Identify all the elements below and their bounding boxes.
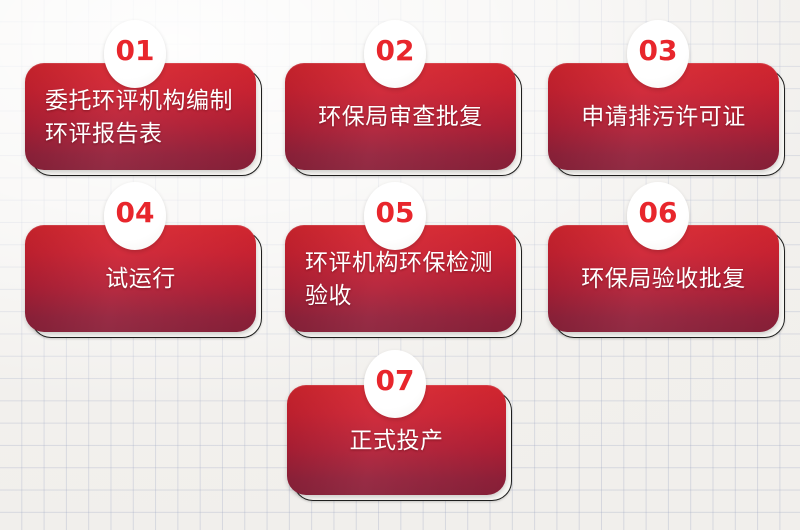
- step-number: 02: [376, 37, 415, 65]
- infographic-canvas: 委托环评机构编制环评报告表01环保局审查批复02申请排污许可证03试运行04环评…: [0, 0, 800, 530]
- step-number-badge: 03: [627, 20, 689, 88]
- step-number-badge: 02: [364, 20, 426, 88]
- step-number: 04: [116, 199, 155, 227]
- step-number: 03: [639, 37, 678, 65]
- step-label: 申请排污许可证: [548, 100, 779, 133]
- step-label: 试运行: [25, 262, 256, 295]
- step-label: 环评机构环保检测验收: [285, 246, 516, 311]
- step-number: 01: [116, 37, 155, 65]
- step-number-badge: 04: [104, 182, 166, 250]
- step-number-badge: 06: [627, 182, 689, 250]
- step-label: 环保局审查批复: [285, 100, 516, 133]
- step-number: 07: [376, 367, 415, 395]
- step-label: 委托环评机构编制环评报告表: [25, 84, 256, 149]
- step-number-badge: 01: [104, 20, 166, 88]
- step-number: 05: [376, 199, 415, 227]
- step-label: 环保局验收批复: [548, 262, 779, 295]
- step-number-badge: 07: [364, 350, 426, 418]
- step-number: 06: [639, 199, 678, 227]
- step-number-badge: 05: [364, 182, 426, 250]
- step-label: 正式投产: [287, 424, 506, 457]
